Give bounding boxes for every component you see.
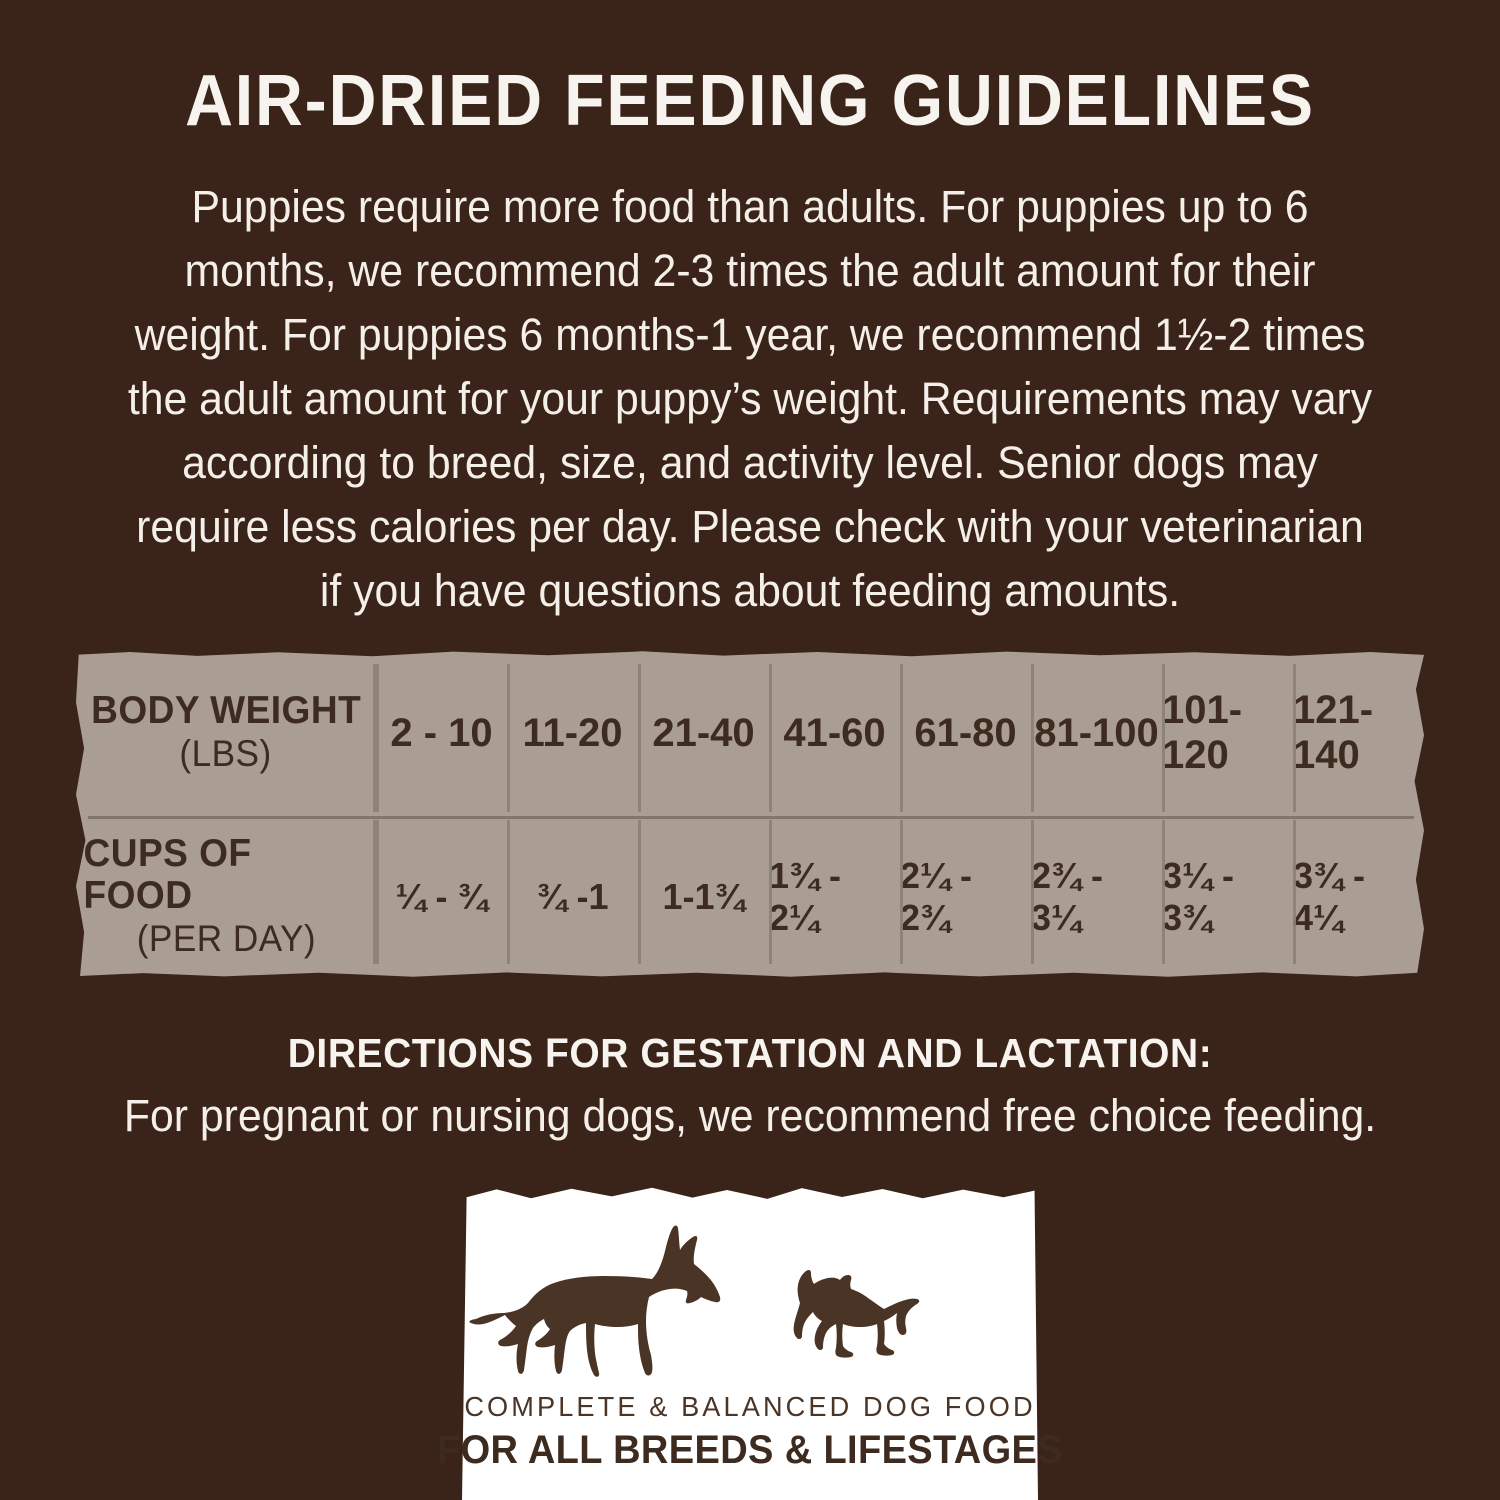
intro-paragraph: Puppies require more food than adults. F… [121,175,1379,623]
cell-weight-2: 11-20 [507,650,638,816]
feeding-guidelines-panel: AIR-DRIED FEEDING GUIDELINES Puppies req… [0,0,1500,1500]
cell-weight-5: 61-80 [900,650,1031,816]
row-header-body-weight-unit: (LBS) [180,732,272,776]
directions-heading: DIRECTIONS FOR GESTATION AND LACTATION: [38,1030,1463,1077]
cell-weight-1: 2 - 10 [376,650,507,816]
row-header-body-weight: BODY WEIGHT (LBS) [76,650,376,816]
cell-cups-4: 1¾ - 2¼ [769,816,900,978]
cell-cups-6: 2¾ - 3¼ [1031,816,1162,978]
page-title: AIR-DRIED FEEDING GUIDELINES [60,62,1440,140]
table-row: BODY WEIGHT (LBS) 2 - 10 11-20 21-40 41-… [76,650,1424,816]
cell-cups-8: 3¾ - 4¼ [1293,816,1424,978]
cell-cups-5: 2¼ - 2¾ [900,816,1031,978]
row-header-cups-main: CUPS OF FOOD [84,833,369,917]
cell-weight-7: 101-120 [1162,650,1293,816]
dog-silhouettes-group [462,1223,1038,1383]
table-row: CUPS OF FOOD (PER DAY) ¼ - ¾ ¾ -1 1-1¾ 1… [76,816,1424,978]
row-header-body-weight-main: BODY WEIGHT [91,690,361,732]
row-header-cups-of-food: CUPS OF FOOD (PER DAY) [76,816,376,978]
cell-cups-1: ¼ - ¾ [376,816,507,978]
cell-cups-3: 1-1¾ [638,816,769,978]
cell-cups-7: 3¼ - 3¾ [1162,816,1293,978]
table-grid: BODY WEIGHT (LBS) 2 - 10 11-20 21-40 41-… [76,650,1424,978]
small-dog-silhouette [794,1270,920,1358]
cell-weight-3: 21-40 [638,650,769,816]
large-dog-silhouette [469,1225,720,1376]
directions-body: For pregnant or nursing dogs, we recomme… [38,1090,1463,1142]
cell-cups-2: ¾ -1 [507,816,638,978]
logo-tagline-secondary: FOR ALL BREEDS & LIFESTAGES [38,1428,1463,1473]
row-header-cups-unit: (PER DAY) [136,917,315,961]
logo-tagline-primary: COMPLETE & BALANCED DOG FOOD [23,1391,1478,1423]
cell-weight-8: 121-140 [1293,650,1424,816]
cell-weight-4: 41-60 [769,650,900,816]
feeding-table: BODY WEIGHT (LBS) 2 - 10 11-20 21-40 41-… [76,650,1424,978]
cell-weight-6: 81-100 [1031,650,1162,816]
